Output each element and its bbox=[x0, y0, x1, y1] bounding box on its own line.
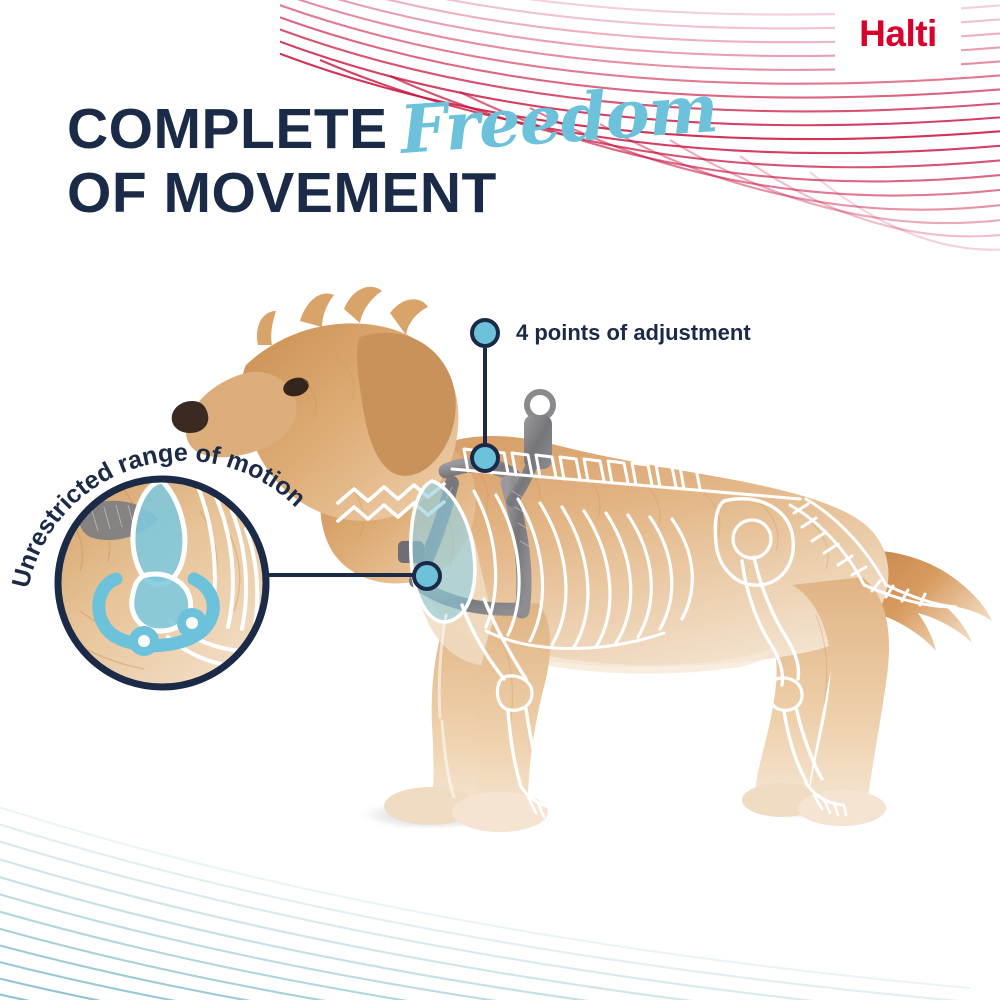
rom-knob-right-center bbox=[186, 617, 198, 629]
headline-line-2: OF MOVEMENT bbox=[67, 161, 717, 225]
brand-logo-text: Halti bbox=[859, 15, 937, 52]
harness-d-ring bbox=[527, 392, 553, 418]
headline-prefix: COMPLETE bbox=[67, 97, 388, 161]
headline-script-word: Freedom bbox=[398, 76, 719, 162]
brand-logo: Halti bbox=[835, 0, 961, 73]
headline-line-1: COMPLETEFreedom bbox=[67, 93, 717, 161]
callout-leader-vertical bbox=[483, 348, 487, 458]
callout-points-of-adjustment[interactable]: 4 points of adjustment bbox=[470, 318, 751, 348]
rom-knob-left-center bbox=[138, 635, 150, 647]
anchor-dot-harness bbox=[470, 443, 500, 473]
anchor-dot-shoulder bbox=[412, 561, 442, 591]
magnifier-detail-circle[interactable] bbox=[50, 471, 275, 696]
callout-label: 4 points of adjustment bbox=[516, 320, 751, 346]
dog-paw-hind-near bbox=[798, 790, 886, 826]
dog-nose bbox=[172, 401, 209, 433]
callout-leader-horizontal bbox=[262, 573, 427, 577]
callout-dot-icon bbox=[470, 318, 500, 348]
page-title: COMPLETEFreedom OF MOVEMENT bbox=[67, 93, 717, 225]
poster-canvas: Halti COMPLETEFreedom OF MOVEMENT bbox=[0, 0, 1000, 1000]
